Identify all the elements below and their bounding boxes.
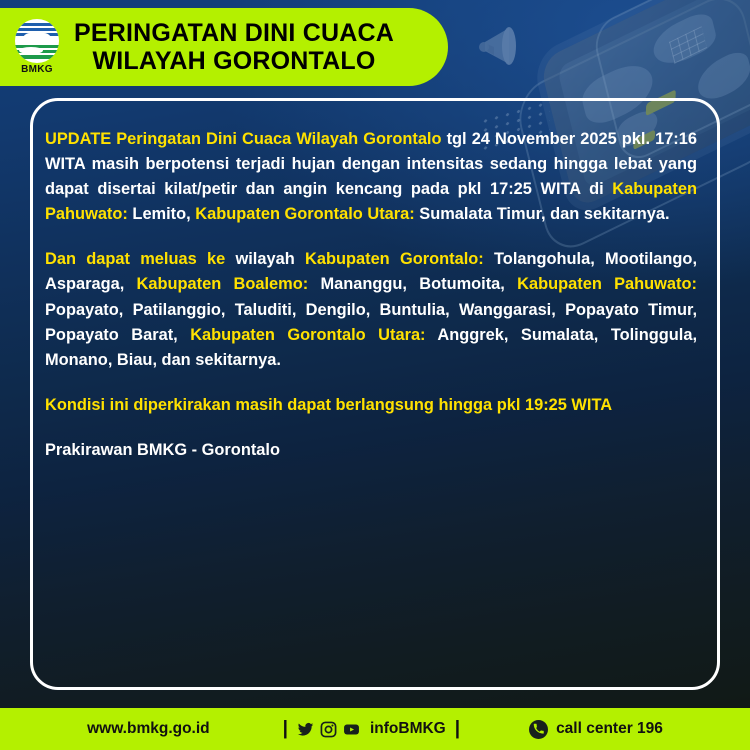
p1-seg1: UPDATE Peringatan Dini Cuaca Wilayah Gor… — [45, 130, 442, 148]
p2-seg9: Kabupaten Gorontalo Utara: — [190, 326, 425, 344]
p2-seg2: wilayah — [225, 250, 305, 268]
bmkg-logo-mark — [15, 19, 59, 63]
footer-separator-left: | — [283, 718, 288, 740]
footer-call-label[interactable]: call center 196 — [556, 720, 663, 738]
p1-seg6: Sumalata Timur, dan sekitarnya. — [415, 205, 670, 223]
footer-social-handle[interactable]: infoBMKG — [370, 720, 446, 738]
footer-bar: www.bmkg.go.id | infoBMKG | — [0, 708, 750, 750]
warning-text-body: UPDATE Peringatan Dini Cuaca Wilayah Gor… — [33, 101, 717, 463]
warning-paragraph-2: Dan dapat meluas ke wilayah Kabupaten Go… — [45, 247, 697, 372]
warning-paragraph-1: UPDATE Peringatan Dini Cuaca Wilayah Gor… — [45, 127, 697, 227]
poster-canvas: BMKG PERINGATAN DINI CUACA WILAYAH GORON… — [0, 0, 750, 750]
header-banner: BMKG PERINGATAN DINI CUACA WILAYAH GORON… — [0, 8, 448, 86]
p2-seg5: Kabupaten Boalemo: — [137, 275, 309, 293]
p2-seg7: Kabupaten Pahuwato: — [517, 275, 697, 293]
youtube-icon[interactable] — [343, 721, 360, 738]
page-title-line2: WILAYAH GORONTALO — [66, 47, 402, 75]
footer-separator-right: | — [455, 718, 460, 740]
instagram-icon[interactable] — [320, 721, 337, 738]
warning-card: UPDATE Peringatan Dini Cuaca Wilayah Gor… — [30, 98, 720, 690]
bmkg-logo: BMKG — [8, 19, 66, 75]
footer-website[interactable]: www.bmkg.go.id — [87, 720, 210, 738]
footer-call-center[interactable]: call center 196 — [529, 720, 663, 739]
page-title-line1: PERINGATAN DINI CUACA — [74, 19, 394, 47]
p1-seg5: Kabupaten Gorontalo Utara: — [195, 205, 414, 223]
p2-seg3: Kabupaten Gorontalo: — [305, 250, 484, 268]
p2-seg1: Dan dapat meluas ke — [45, 250, 225, 268]
warning-signature: Prakirawan BMKG - Gorontalo — [45, 438, 697, 463]
footer-social-group: infoBMKG — [297, 720, 446, 738]
megaphone-icon — [475, 18, 547, 74]
phone-icon — [529, 720, 548, 739]
twitter-icon[interactable] — [297, 721, 314, 738]
warning-paragraph-3: Kondisi ini diperkirakan masih dapat ber… — [45, 393, 697, 418]
p1-seg4: Lemito, — [128, 205, 195, 223]
page-title: PERINGATAN DINI CUACA WILAYAH GORONTALO — [66, 19, 448, 75]
bmkg-logo-text: BMKG — [21, 64, 53, 75]
p2-seg6: Mananggu, Botumoita, — [308, 275, 517, 293]
decorative-grid — [669, 26, 707, 64]
